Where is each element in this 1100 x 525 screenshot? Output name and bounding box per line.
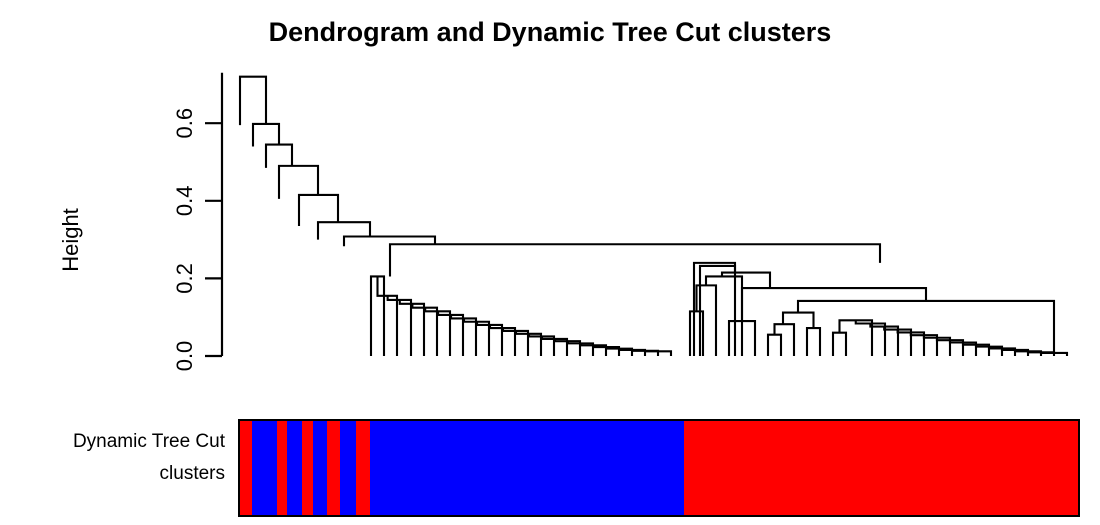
cluster-bar-segment [327,420,340,516]
cluster-bar-label-line2: clusters [160,463,225,484]
plot-canvas: Dendrogram and Dynamic Tree Cut clusters… [0,0,1100,525]
cluster-bar-segment [302,420,313,516]
cluster-bar-segment [370,420,684,516]
page-title: Dendrogram and Dynamic Tree Cut clusters [269,17,832,47]
y-tick-label: 0.4 [172,186,197,217]
cluster-bar-label-line1: Dynamic Tree Cut [73,431,226,452]
cluster-bar-segment [277,420,287,516]
cluster-bar-segment [356,420,370,516]
cluster-bar-segment [239,420,252,516]
y-tick-label: 0.2 [172,263,197,294]
cluster-bar-segment [340,420,356,516]
y-tick-label: 0.0 [172,341,197,372]
cluster-color-bar [239,420,1079,516]
y-axis-title: Height [58,208,83,272]
dendrogram-plot: Dendrogram and Dynamic Tree Cut clusters… [0,0,1100,525]
cluster-bar-segment [252,420,277,516]
y-tick-label: 0.6 [172,108,197,139]
cluster-bar-segment [684,420,1079,516]
cluster-bar-segment [287,420,302,516]
cluster-bar-segment [313,420,327,516]
